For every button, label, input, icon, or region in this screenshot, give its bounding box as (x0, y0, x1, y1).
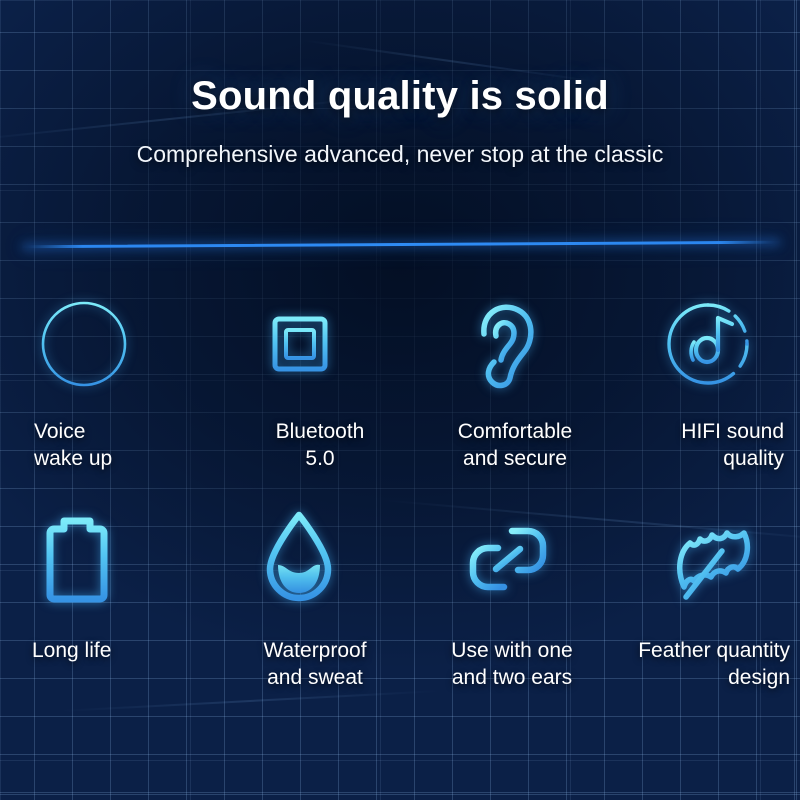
feature-label: Feather quantity design (600, 637, 800, 692)
icon-slot (400, 503, 600, 615)
feature-cell-bluetooth[interactable]: Bluetooth 5.0 (200, 288, 400, 503)
chain-link-icon (462, 513, 554, 605)
feature-label: HIFI sound quality (600, 418, 800, 473)
ear-icon (466, 296, 546, 392)
feature-grid: Voice wake up (0, 288, 800, 733)
feature-row: Voice wake up (0, 288, 800, 503)
icon-slot (200, 288, 400, 400)
battery-icon (40, 511, 114, 607)
music-disc-icon (662, 298, 754, 390)
feature-label: Waterproof and sweat (200, 637, 400, 692)
icon-slot (0, 288, 200, 400)
feature-cell-comfortable[interactable]: Comfortable and secure (400, 288, 600, 503)
bluetooth-chip-icon (256, 300, 344, 388)
feature-label: Use with one and two ears (400, 637, 600, 692)
feature-label: Comfortable and secure (400, 418, 600, 473)
icon-slot (0, 503, 200, 615)
voice-waveform-icon (36, 296, 132, 392)
feature-row: Long life Waterproof and sweat (0, 503, 800, 733)
infographic-page: Sound quality is solid Comprehensive adv… (0, 0, 800, 800)
feature-label: Long life (0, 637, 200, 664)
feature-cell-hifi[interactable]: HIFI sound quality (600, 288, 800, 503)
feature-cell-one-two-ears[interactable]: Use with one and two ears (400, 503, 600, 733)
page-title: Sound quality is solid (0, 74, 800, 119)
feather-icon (664, 511, 760, 607)
icon-slot (600, 288, 800, 400)
icon-slot (200, 503, 400, 615)
feature-cell-voice-wake-up[interactable]: Voice wake up (0, 288, 200, 503)
feature-cell-long-life[interactable]: Long life (0, 503, 200, 733)
feature-cell-feather[interactable]: Feather quantity design (600, 503, 800, 733)
feature-label: Bluetooth 5.0 (200, 418, 400, 473)
page-subtitle: Comprehensive advanced, never stop at th… (0, 141, 800, 168)
feature-cell-waterproof[interactable]: Waterproof and sweat (200, 503, 400, 733)
feature-label: Voice wake up (0, 418, 200, 473)
water-drop-icon (258, 509, 340, 609)
header: Sound quality is solid Comprehensive adv… (0, 0, 800, 168)
icon-slot (400, 288, 600, 400)
icon-slot (600, 503, 800, 615)
